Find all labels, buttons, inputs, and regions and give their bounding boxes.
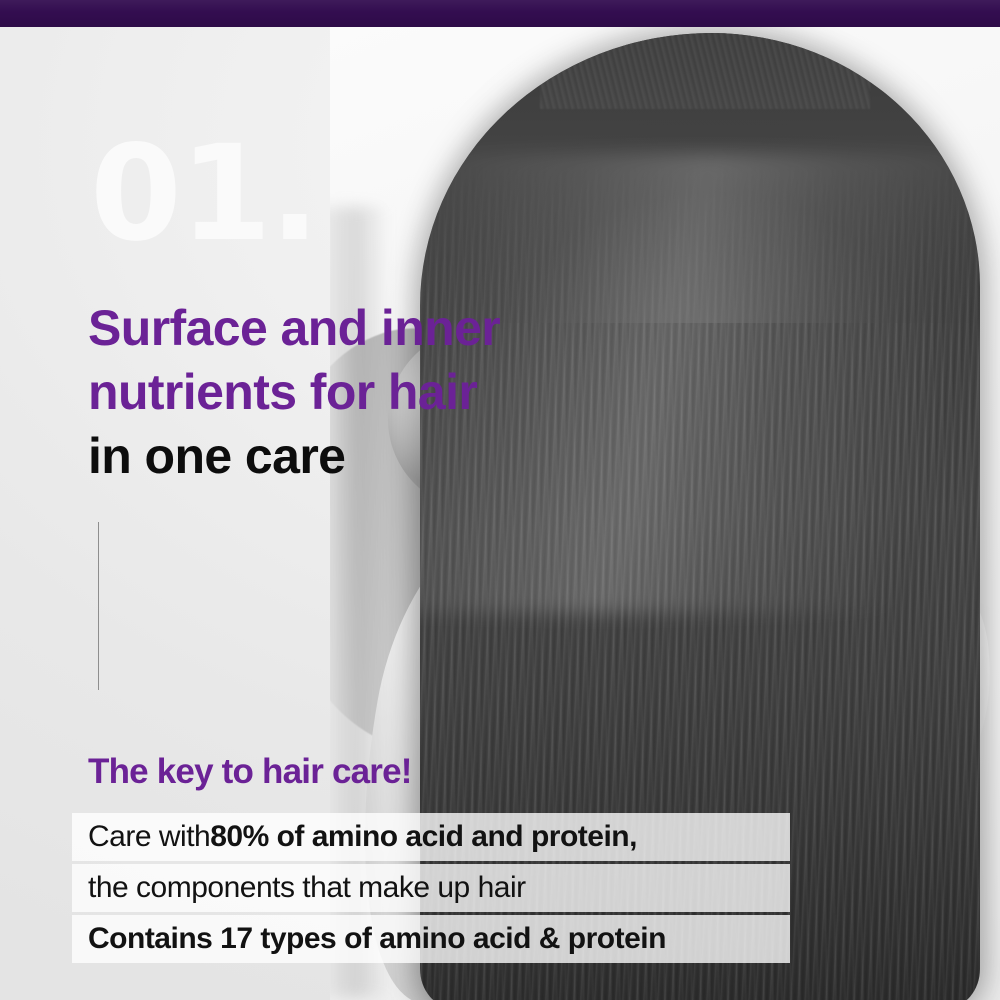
headline-line-2: nutrients for hair xyxy=(88,360,500,424)
body-line-2-regular: the components that make up hair xyxy=(88,873,526,903)
hair-sheen xyxy=(420,153,980,613)
body-line-1-regular: Care with xyxy=(88,822,210,852)
top-bar-sheen xyxy=(0,0,1000,27)
kicker-text: The key to hair care! xyxy=(88,752,412,792)
body-line-2: the components that make up hair xyxy=(72,864,790,912)
hair-flyaway-strands xyxy=(540,33,870,109)
body-line-3-bold: Contains 17 types of amino acid & protei… xyxy=(88,924,666,954)
vertical-divider xyxy=(98,522,99,690)
page-title: Surface and inner nutrients for hair in … xyxy=(88,296,500,488)
top-accent-bar xyxy=(0,0,1000,27)
headline-line-1: Surface and inner xyxy=(88,296,500,360)
body-line-1-bold: 80% of amino acid and protein, xyxy=(210,822,637,852)
body-copy-bands: Care with 80% of amino acid and protein,… xyxy=(72,813,790,963)
body-line-1: Care with 80% of amino acid and protein, xyxy=(72,813,790,861)
promo-page: 01. Surface and inner nutrients for hair… xyxy=(0,0,1000,1000)
body-line-3: Contains 17 types of amino acid & protei… xyxy=(72,915,790,963)
headline-line-3: in one care xyxy=(88,424,500,488)
section-number: 01. xyxy=(90,128,318,260)
